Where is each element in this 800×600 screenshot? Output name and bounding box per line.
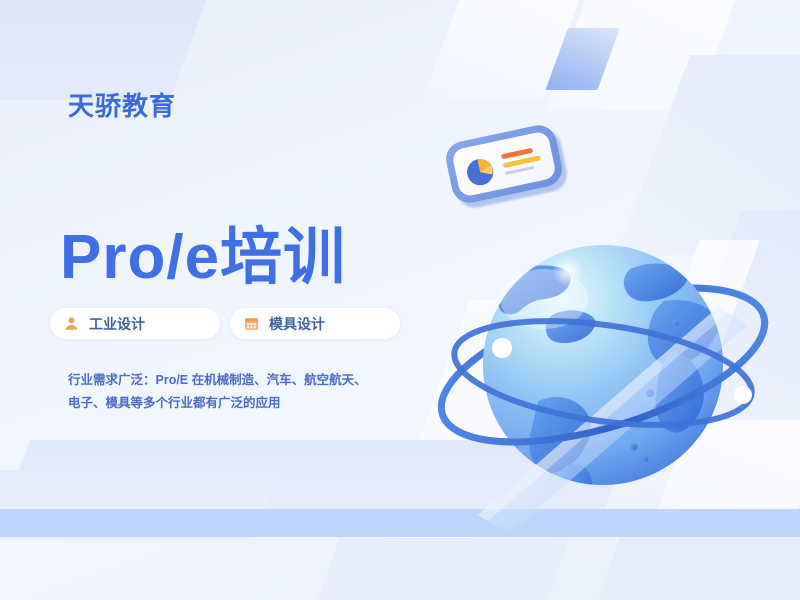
globe-illustration [418, 215, 788, 535]
page-title: Pro/e培训 [60, 224, 346, 292]
pie-chart-icon [462, 154, 498, 190]
globe-specular [552, 255, 584, 287]
tag-mold-design[interactable]: 模具设计 [230, 308, 400, 339]
orbit-node [492, 338, 512, 358]
banner-description: 行业需求广泛：Pro/E 在机械制造、汽车、航空航天、电子、模具等多个行业都有广… [68, 369, 374, 415]
tag-label: 工业设计 [89, 314, 145, 334]
brand-logo: 天骄教育 [68, 86, 176, 123]
globe-svg [418, 215, 788, 535]
bar-line-gray [505, 166, 535, 175]
tag-label: 模具设计 [269, 314, 325, 334]
orbit-node [734, 386, 752, 404]
bar-lines [501, 147, 543, 179]
calendar-icon [244, 316, 259, 331]
tag-industrial-design[interactable]: 工业设计 [50, 308, 220, 339]
analytics-card-body [451, 130, 557, 197]
user-icon [64, 316, 79, 331]
promo-banner: 天骄教育 Pro/e培训 工业设计 [0, 0, 800, 600]
tag-list: 工业设计 模具设计 [50, 308, 400, 339]
decor-parallelogram-bottom-b [591, 538, 800, 600]
banner-content: 天骄教育 Pro/e培训 工业设计 [0, 0, 460, 600]
